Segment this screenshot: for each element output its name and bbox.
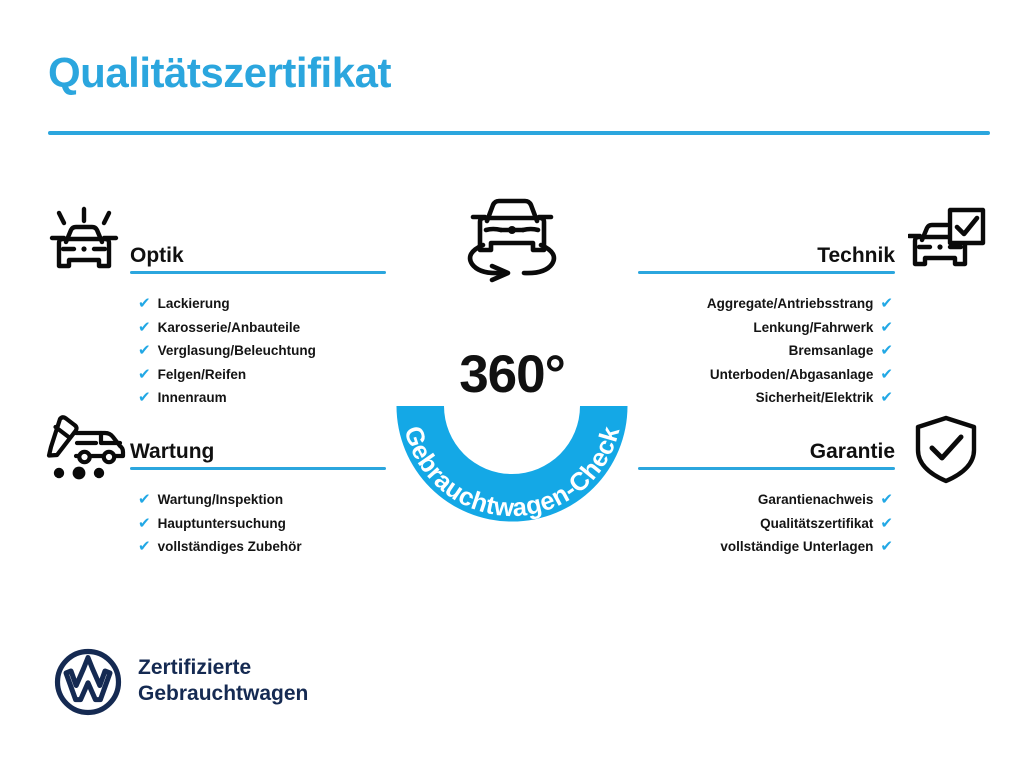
pencil-car-icon <box>46 414 126 480</box>
section-underline-technik <box>638 271 895 274</box>
list-item-label: Lenkung/Fahrwerk <box>753 316 873 340</box>
car-checkbox-icon <box>908 205 986 279</box>
page-title: Qualitätszertifikat <box>48 50 391 96</box>
list-item: ✔Verglasung/Beleuchtung <box>130 339 386 363</box>
check-icon: ✔ <box>880 492 893 507</box>
list-item: ✔Hauptuntersuchung <box>130 512 386 536</box>
section-optik: Optik ✔Lackierung ✔Karosserie/Anbauteile… <box>130 232 386 410</box>
section-title-wartung: Wartung <box>130 440 214 464</box>
check-icon: ✔ <box>138 492 151 507</box>
vw-roundel-icon <box>54 648 122 716</box>
checklist-garantie: Garantienachweis✔ Qualitätszertifikat✔ v… <box>638 488 895 559</box>
section-header-optik: Optik <box>130 232 386 270</box>
check-icon: ✔ <box>138 390 151 405</box>
section-underline-wartung <box>130 467 386 470</box>
check-icon: ✔ <box>138 320 151 335</box>
header-divider <box>48 131 990 135</box>
section-underline-garantie <box>638 467 895 470</box>
check-icon: ✔ <box>138 343 151 358</box>
check-icon: ✔ <box>138 516 151 531</box>
section-header-technik: Technik <box>638 232 895 270</box>
check-icon: ✔ <box>880 367 893 382</box>
list-item-label: Wartung/Inspektion <box>158 488 284 512</box>
list-item-label: Hauptuntersuchung <box>158 512 286 536</box>
list-item-label: Qualitätszertifikat <box>760 512 873 536</box>
section-wartung: Wartung ✔Wartung/Inspektion ✔Hauptunters… <box>130 428 386 559</box>
list-item: Aggregate/Antriebsstrang✔ <box>638 292 895 316</box>
list-item-label: Bremsanlage <box>789 339 874 363</box>
list-item: ✔Innenraum <box>130 386 386 410</box>
section-header-wartung: Wartung <box>130 428 386 466</box>
car-rotation-icon <box>456 188 568 284</box>
check-icon: ✔ <box>880 390 893 405</box>
check-icon: ✔ <box>880 516 893 531</box>
shield-check-icon <box>912 414 980 486</box>
list-item-label: Garantienachweis <box>758 488 874 512</box>
section-header-garantie: Garantie <box>638 428 895 466</box>
list-item: vollständige Unterlagen✔ <box>638 535 895 559</box>
list-item-label: vollständige Unterlagen <box>720 535 873 559</box>
section-title-garantie: Garantie <box>810 440 895 464</box>
checklist-wartung: ✔Wartung/Inspektion ✔Hauptuntersuchung ✔… <box>130 488 386 559</box>
list-item: Sicherheit/Elektrik✔ <box>638 386 895 410</box>
check-icon: ✔ <box>880 343 893 358</box>
list-item-label: Innenraum <box>158 386 227 410</box>
list-item-label: Karosserie/Anbauteile <box>158 316 301 340</box>
checklist-optik: ✔Lackierung ✔Karosserie/Anbauteile ✔Verg… <box>130 292 386 410</box>
list-item-label: Felgen/Reifen <box>158 363 247 387</box>
list-item-label: Unterboden/Abgasanlage <box>710 363 874 387</box>
list-item: ✔vollständiges Zubehör <box>130 535 386 559</box>
badge-center-label: 360° <box>370 344 654 405</box>
section-technik: Technik Aggregate/Antriebsstrang✔ Lenkun… <box>638 232 895 410</box>
vw-logo-line1: Zertifizierte <box>138 655 308 681</box>
list-item: ✔Lackierung <box>130 292 386 316</box>
section-underline-optik <box>130 271 386 274</box>
section-title-optik: Optik <box>130 244 184 268</box>
check-icon: ✔ <box>880 539 893 554</box>
vw-logo-text: Zertifizierte Gebrauchtwagen <box>138 655 308 707</box>
list-item: Garantienachweis✔ <box>638 488 895 512</box>
list-item-label: Aggregate/Antriebsstrang <box>707 292 874 316</box>
list-item-label: Verglasung/Beleuchtung <box>158 339 316 363</box>
section-title-technik: Technik <box>817 244 895 268</box>
list-item: Unterboden/Abgasanlage✔ <box>638 363 895 387</box>
list-item: ✔Karosserie/Anbauteile <box>130 316 386 340</box>
check-icon: ✔ <box>138 539 151 554</box>
list-item-label: Sicherheit/Elektrik <box>756 386 874 410</box>
list-item: ✔Felgen/Reifen <box>130 363 386 387</box>
car-shine-icon <box>46 204 122 280</box>
section-garantie: Garantie Garantienachweis✔ Qualitätszert… <box>638 428 895 559</box>
list-item-label: Lackierung <box>158 292 230 316</box>
check-icon: ✔ <box>880 296 893 311</box>
vw-logo-line2: Gebrauchtwagen <box>138 681 308 707</box>
checklist-technik: Aggregate/Antriebsstrang✔ Lenkung/Fahrwe… <box>638 292 895 410</box>
list-item-label: vollständiges Zubehör <box>158 535 302 559</box>
list-item: Lenkung/Fahrwerk✔ <box>638 316 895 340</box>
check-icon: ✔ <box>138 296 151 311</box>
check-icon: ✔ <box>880 320 893 335</box>
list-item: Qualitätszertifikat✔ <box>638 512 895 536</box>
list-item: Bremsanlage✔ <box>638 339 895 363</box>
check-icon: ✔ <box>138 367 151 382</box>
list-item: ✔Wartung/Inspektion <box>130 488 386 512</box>
certificate-page: Qualitätszertifikat Optik ✔Lack <box>0 0 1024 768</box>
badge-360-gebrauchtwagen-check: Gebrauchtwagen-Check 360° <box>370 248 654 532</box>
